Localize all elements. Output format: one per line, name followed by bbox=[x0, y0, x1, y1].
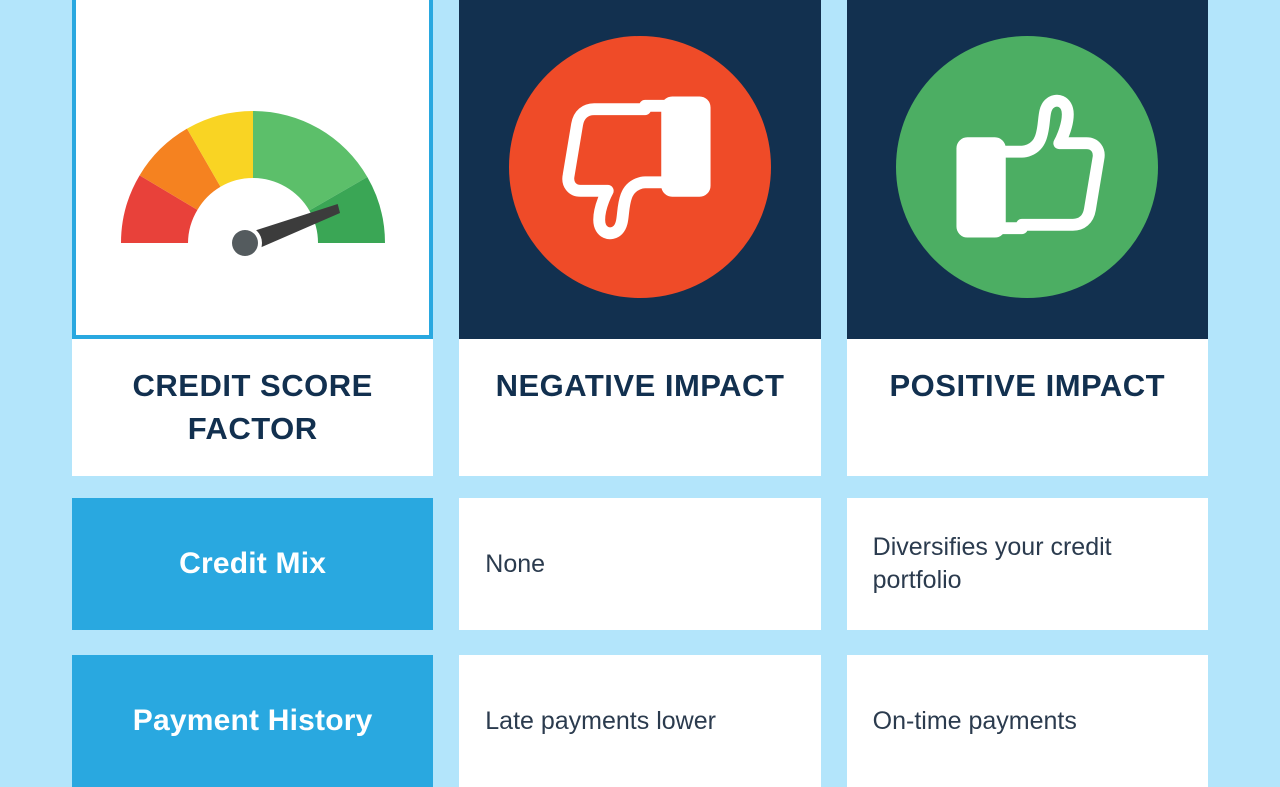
row-factor-label: Credit Mix bbox=[179, 547, 326, 581]
thumbs-down-icon bbox=[555, 82, 725, 252]
row-positive-text: Diversifies your credit portfolio bbox=[873, 531, 1182, 597]
header-label-box: NEGATIVE IMPACT bbox=[459, 339, 820, 476]
row-factor-cell: Payment History bbox=[72, 655, 433, 787]
row-negative-cell: Late payments lower bbox=[459, 655, 820, 787]
thumbs-up-icon bbox=[942, 82, 1112, 252]
credit-score-gauge-icon bbox=[103, 91, 403, 261]
table-row: Payment History Late payments lower On-t… bbox=[72, 655, 1208, 787]
header-card-credit-score-factor: CREDIT SCORE FACTOR bbox=[72, 0, 433, 476]
header-card-negative-impact: NEGATIVE IMPACT bbox=[459, 0, 820, 476]
table-row: Credit Mix None Diversifies your credit … bbox=[72, 498, 1208, 630]
thumbs-down-circle bbox=[509, 36, 771, 298]
header-label-credit-score-factor: CREDIT SCORE FACTOR bbox=[93, 365, 413, 451]
comparison-table: Credit Mix None Diversifies your credit … bbox=[72, 498, 1208, 787]
positive-impact-icon-box bbox=[847, 0, 1208, 339]
row-negative-text: Late payments lower bbox=[485, 705, 716, 738]
negative-impact-icon-box bbox=[459, 0, 820, 339]
header-label-box: POSITIVE IMPACT bbox=[847, 339, 1208, 476]
credit-score-gauge-box bbox=[72, 0, 433, 339]
header-label-negative-impact: NEGATIVE IMPACT bbox=[496, 365, 785, 408]
row-factor-label: Payment History bbox=[133, 704, 373, 738]
row-positive-cell: On-time payments bbox=[847, 655, 1208, 787]
header-card-positive-impact: POSITIVE IMPACT bbox=[847, 0, 1208, 476]
infographic-page: CREDIT SCORE FACTOR NEGATIVE IMPACT bbox=[0, 0, 1280, 720]
thumbs-up-circle bbox=[896, 36, 1158, 298]
row-positive-text: On-time payments bbox=[873, 705, 1077, 738]
row-factor-cell: Credit Mix bbox=[72, 498, 433, 630]
header-label-box: CREDIT SCORE FACTOR bbox=[72, 339, 433, 476]
header-label-positive-impact: POSITIVE IMPACT bbox=[890, 365, 1166, 408]
header-row: CREDIT SCORE FACTOR NEGATIVE IMPACT bbox=[72, 0, 1208, 476]
row-positive-cell: Diversifies your credit portfolio bbox=[847, 498, 1208, 630]
row-negative-text: None bbox=[485, 548, 545, 581]
row-negative-cell: None bbox=[459, 498, 820, 630]
